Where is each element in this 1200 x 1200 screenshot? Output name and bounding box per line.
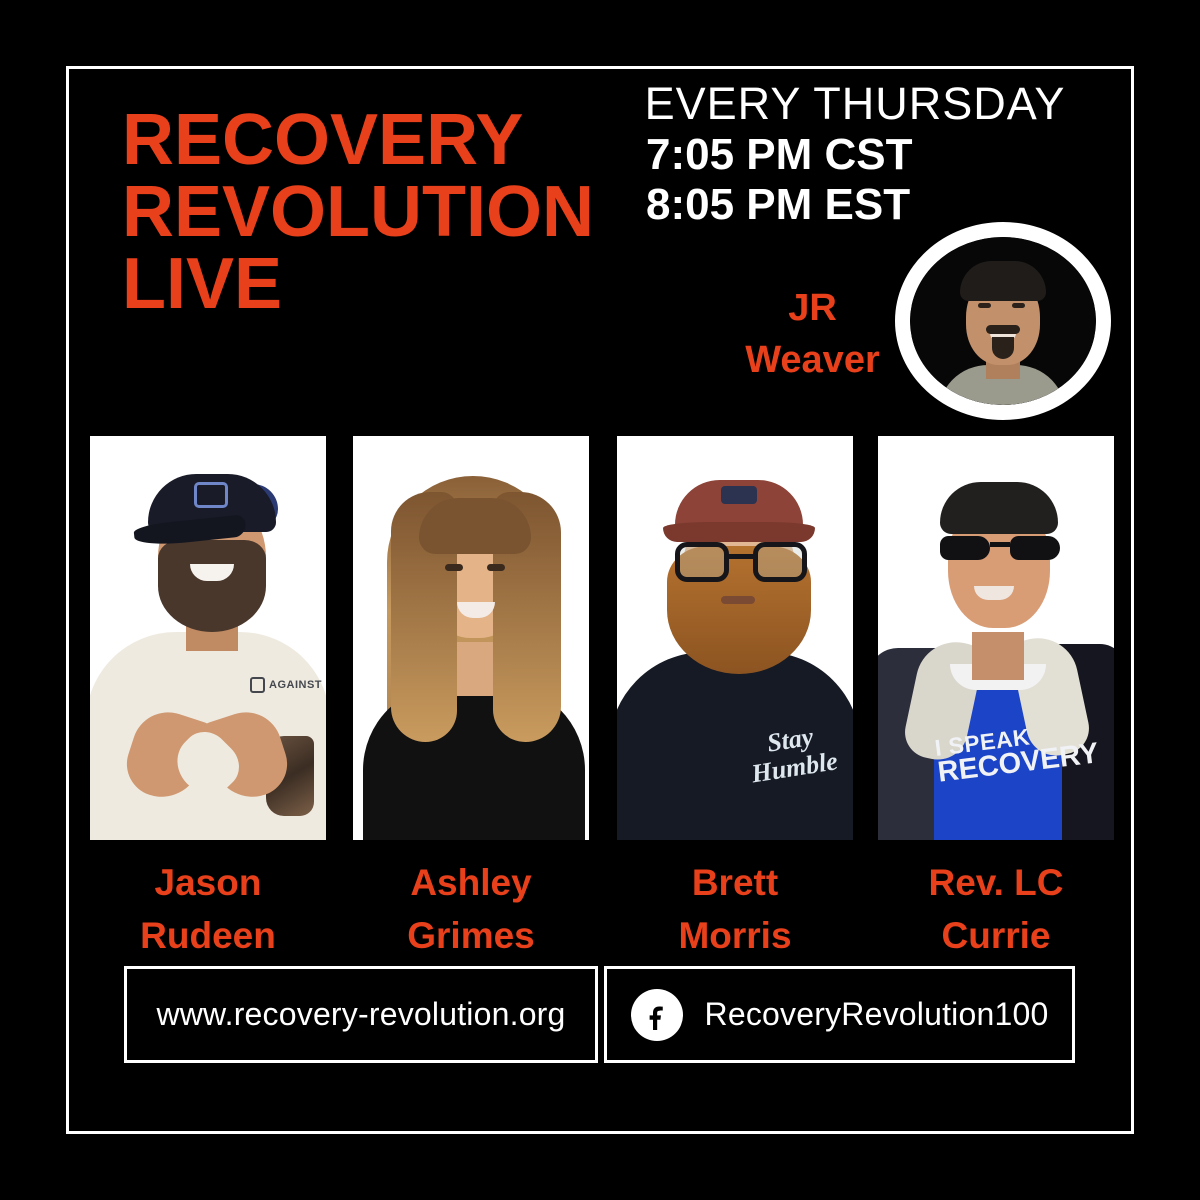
schedule-day: EVERY THURSDAY (640, 78, 1070, 130)
panelist-last-name: Morris (617, 909, 853, 962)
promo-poster: RECOVERY REVOLUTION LIVE EVERY THURSDAY … (0, 0, 1200, 1200)
panelist-first-name: Jason (90, 856, 326, 909)
website-url[interactable]: www.recovery-revolution.org (156, 996, 565, 1033)
facebook-handle[interactable]: RecoveryRevolution100 (705, 996, 1049, 1033)
panelist-last-name: Grimes (353, 909, 589, 962)
panelist-last-name: Rudeen (90, 909, 326, 962)
panelist-photo-jason-rudeen: AGAINST (90, 436, 326, 840)
panelist-last-name: Currie (878, 909, 1114, 962)
panelist-name-brett-morris: Brett Morris (617, 856, 853, 962)
title-line-3: LIVE (122, 248, 682, 320)
panelist-name-ashley-grimes: Ashley Grimes (353, 856, 589, 962)
panelist-photo-ashley-grimes (353, 436, 589, 840)
panelist-photo-rev-lc-currie: I SPEAK RECOVERY (878, 436, 1114, 840)
page-title: RECOVERY REVOLUTION LIVE (122, 104, 682, 320)
panelist-name-rev-lc-currie: Rev. LC Currie (878, 856, 1114, 962)
schedule-block: EVERY THURSDAY 7:05 PM CST 8:05 PM EST (640, 78, 1070, 230)
against-the-odds-icon (250, 677, 265, 693)
panelist-photo-brett-morris: Stay Humble (617, 436, 853, 840)
panelist-first-name: Brett (617, 856, 853, 909)
panelist-name-jason-rudeen: Jason Rudeen (90, 856, 326, 962)
shirt-logo-against-the-odds: AGAINST (250, 674, 322, 696)
sunglasses-icon (940, 536, 1060, 560)
facebook-icon[interactable] (631, 989, 683, 1041)
host-last-name: Weaver (735, 334, 890, 386)
host-avatar-photo (910, 237, 1096, 405)
host-avatar (895, 222, 1111, 420)
title-line-1: RECOVERY (122, 104, 682, 176)
panelist-first-name: Ashley (353, 856, 589, 909)
website-box[interactable]: www.recovery-revolution.org (124, 966, 598, 1063)
panelist-first-name: Rev. LC (878, 856, 1114, 909)
title-line-2: REVOLUTION (122, 176, 682, 248)
host-name: JR Weaver (735, 282, 890, 386)
eyeglasses-icon (675, 542, 807, 582)
host-first-name: JR (735, 282, 890, 334)
schedule-time-cst: 7:05 PM CST (640, 130, 1070, 180)
facebook-box[interactable]: RecoveryRevolution100 (604, 966, 1075, 1063)
